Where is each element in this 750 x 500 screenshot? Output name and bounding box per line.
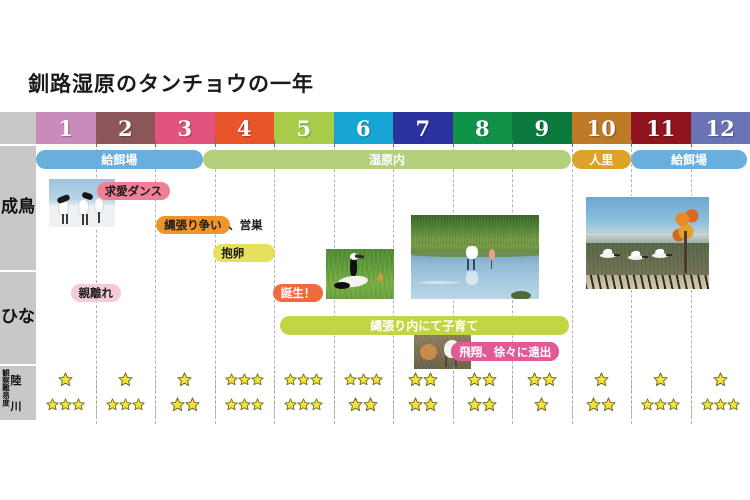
difficulty-river-month-7 [393,393,453,415]
row-label-adult: 成鳥 [0,146,36,270]
month-number-1: 1 [58,118,73,139]
difficulty-land-month-2 [96,368,156,390]
difficulty-land-month-12 [691,368,750,390]
month-number-2: 2 [118,118,133,139]
star-icon [297,373,310,386]
star-icon [170,397,185,412]
star-icon [72,398,85,411]
star-icon [118,372,133,387]
month-cell-5[interactable]: 5 [274,112,334,144]
star-icon [370,373,383,386]
star-icon [467,397,482,412]
photo-detail [466,271,478,285]
star-icon [310,398,323,411]
chick-event-rearing-bar[interactable]: 縄張り内にて子育て [280,316,569,335]
chick-event-independence[interactable]: 親離れ [71,284,122,302]
star-icon [701,398,714,411]
difficulty-river-month-11 [631,393,691,415]
star-icon [132,398,145,411]
difficulty-river-month-5 [274,393,334,415]
gridline [512,391,513,417]
difficulty-river-month-4 [215,393,275,415]
star-icon [423,372,438,387]
adult-event-nesting[interactable]: 、営巣 [228,217,263,233]
difficulty-land-month-5 [274,368,334,390]
star-icon [527,372,542,387]
star-icon [225,398,238,411]
photo-detail [473,259,475,270]
chick-event-birth[interactable]: 誕生！ [273,284,324,302]
star-icon [348,397,363,412]
photo-detail [86,214,88,225]
page-title: 釧路湿原のタンチョウの一年 [28,68,314,98]
star-icon [284,373,297,386]
month-cell-6[interactable]: 6 [334,112,394,144]
adult-event-courtship[interactable]: 求愛ダンス [97,182,170,200]
star-icon [653,372,668,387]
gridline [215,366,216,392]
difficulty-land-month-11 [631,368,691,390]
gridline [393,391,394,417]
gridline [96,391,97,417]
month-cell-7[interactable]: 7 [393,112,453,144]
star-icon [119,398,132,411]
month-cell-1[interactable]: 1 [36,112,96,144]
photo-detail [642,256,648,258]
star-icon [713,372,728,387]
photo-detail [684,231,687,273]
star-icon [310,373,323,386]
star-icon [542,372,557,387]
month-cell-9[interactable]: 9 [512,112,572,144]
row-label-chick: ひな [0,272,36,364]
habitat-bar-3[interactable]: 給餌場 [631,150,747,169]
habitat-bar-0[interactable]: 給餌場 [36,150,203,169]
photo-detail [95,199,103,213]
gridline [453,366,454,392]
photo-detail [62,214,64,224]
star-icon [58,372,73,387]
month-number-4: 4 [237,118,252,139]
photo-detail [489,249,495,260]
month-number-5: 5 [296,118,311,139]
difficulty-river-month-2 [96,393,156,415]
photo-detail [467,259,469,270]
difficulty-river-month-8 [453,393,513,415]
star-icon [482,397,497,412]
habitat-bar-1[interactable]: 湿原内 [203,150,572,169]
photo-detail [411,215,540,247]
month-header-bar: 123456789101112 [36,112,750,144]
star-icon [238,398,251,411]
star-icon [601,397,616,412]
gridline [691,391,692,417]
adult-event-territory[interactable]: 縄張り争い [156,216,230,234]
star-icon [59,398,72,411]
photo-detail [79,200,88,215]
star-icon [177,372,192,387]
star-icon [344,373,357,386]
star-icon [714,398,727,411]
month-number-8: 8 [475,118,490,139]
photo-crane-nesting-grass [325,248,395,300]
star-icon [225,373,238,386]
photo-detail [666,254,672,256]
star-icon [185,397,200,412]
month-cell-3[interactable]: 3 [155,112,215,144]
difficulty-land-month-1 [36,368,96,390]
row-label-adult-text: 成鳥 [1,199,35,216]
difficulty-land-month-4 [215,368,275,390]
star-icon [363,397,378,412]
star-icon [586,397,601,412]
difficulty-river-month-12 [691,393,750,415]
gridline [96,366,97,392]
difficulty-vertical-text: 観察難易度 [2,369,10,417]
star-icon [238,373,251,386]
difficulty-land-month-7 [393,368,453,390]
star-icon [46,398,59,411]
difficulty-land-month-9 [512,368,572,390]
month-cell-10[interactable]: 10 [572,112,632,144]
star-icon [357,373,370,386]
chick-event-flight[interactable]: 飛翔、徐々に遠出 [451,342,559,361]
star-icon [467,372,482,387]
difficulty-river-month-3 [155,393,215,415]
difficulty-river-month-1 [36,393,96,415]
photo-detail [419,281,459,284]
star-icon [667,398,680,411]
photo-cranes-flying-autumn [585,196,710,290]
difficulty-land-month-10 [572,368,632,390]
gridline [334,391,335,417]
habitat-bar-2[interactable]: 人里 [572,150,632,169]
month-number-12: 12 [706,118,735,139]
photo-detail [511,291,531,300]
star-icon [408,372,423,387]
difficulty-land-month-3 [155,368,215,390]
gridline [631,391,632,417]
photo-detail [334,282,350,289]
photo-detail [491,260,492,269]
month-number-3: 3 [177,118,192,139]
month-number-6: 6 [356,118,371,139]
month-number-10: 10 [587,118,616,139]
star-icon [408,397,423,412]
month-number-9: 9 [534,118,549,139]
photo-cranes-wetland-water [410,214,540,300]
star-icon [727,398,740,411]
star-icon [297,398,310,411]
photo-detail [614,254,620,256]
star-icon [482,372,497,387]
gridline [572,391,573,417]
gridline [334,366,335,392]
photo-detail [466,246,478,259]
photo-detail [378,273,383,282]
star-icon [106,398,119,411]
month-cell-4[interactable]: 4 [215,112,275,144]
star-icon [594,372,609,387]
difficulty-land-month-6 [334,368,394,390]
star-icon [654,398,667,411]
difficulty-river-month-10 [572,393,632,415]
gridline [215,391,216,417]
month-cell-2[interactable]: 2 [96,112,156,144]
difficulty-river-month-6 [334,393,394,415]
gridline [155,391,156,417]
difficulty-row-land [36,368,750,390]
gridline [453,391,454,417]
row-label-difficulty: 観察難易度 陸 川 [0,366,36,420]
difficulty-row-river [36,393,750,415]
photo-detail [98,212,100,223]
difficulty-river-month-9 [512,393,572,415]
difficulty-label-river: 川 [11,401,22,412]
gridline [512,366,513,392]
star-icon [251,373,264,386]
gridline [155,366,156,392]
difficulty-land-month-8 [453,368,513,390]
photo-detail [420,344,437,360]
star-icon [534,397,549,412]
month-cell-11[interactable]: 11 [631,112,691,144]
star-icon [641,398,654,411]
difficulty-label-land: 陸 [11,375,22,386]
photo-detail [445,356,447,367]
star-icon [284,398,297,411]
month-cell-12[interactable]: 12 [691,112,750,144]
gridline [274,366,275,392]
adult-event-incubation[interactable]: 抱卵 [213,244,275,262]
gridline [631,366,632,392]
gridline [691,366,692,392]
month-number-7: 7 [415,118,430,139]
star-icon [423,397,438,412]
gridline [572,366,573,392]
photo-detail [82,214,84,225]
month-cell-8[interactable]: 8 [453,112,513,144]
gridline [393,366,394,392]
row-label-chick-text: ひな [1,309,35,326]
gridline [274,391,275,417]
photo-detail [586,275,710,290]
star-icon [251,398,264,411]
corner-cell-header [0,112,36,144]
month-number-11: 11 [646,118,675,139]
photo-detail [66,214,68,224]
infographic-root: 釧路湿原のタンチョウの一年 成鳥 ひな 観察難易度 陸 川 1234567891… [0,0,750,500]
